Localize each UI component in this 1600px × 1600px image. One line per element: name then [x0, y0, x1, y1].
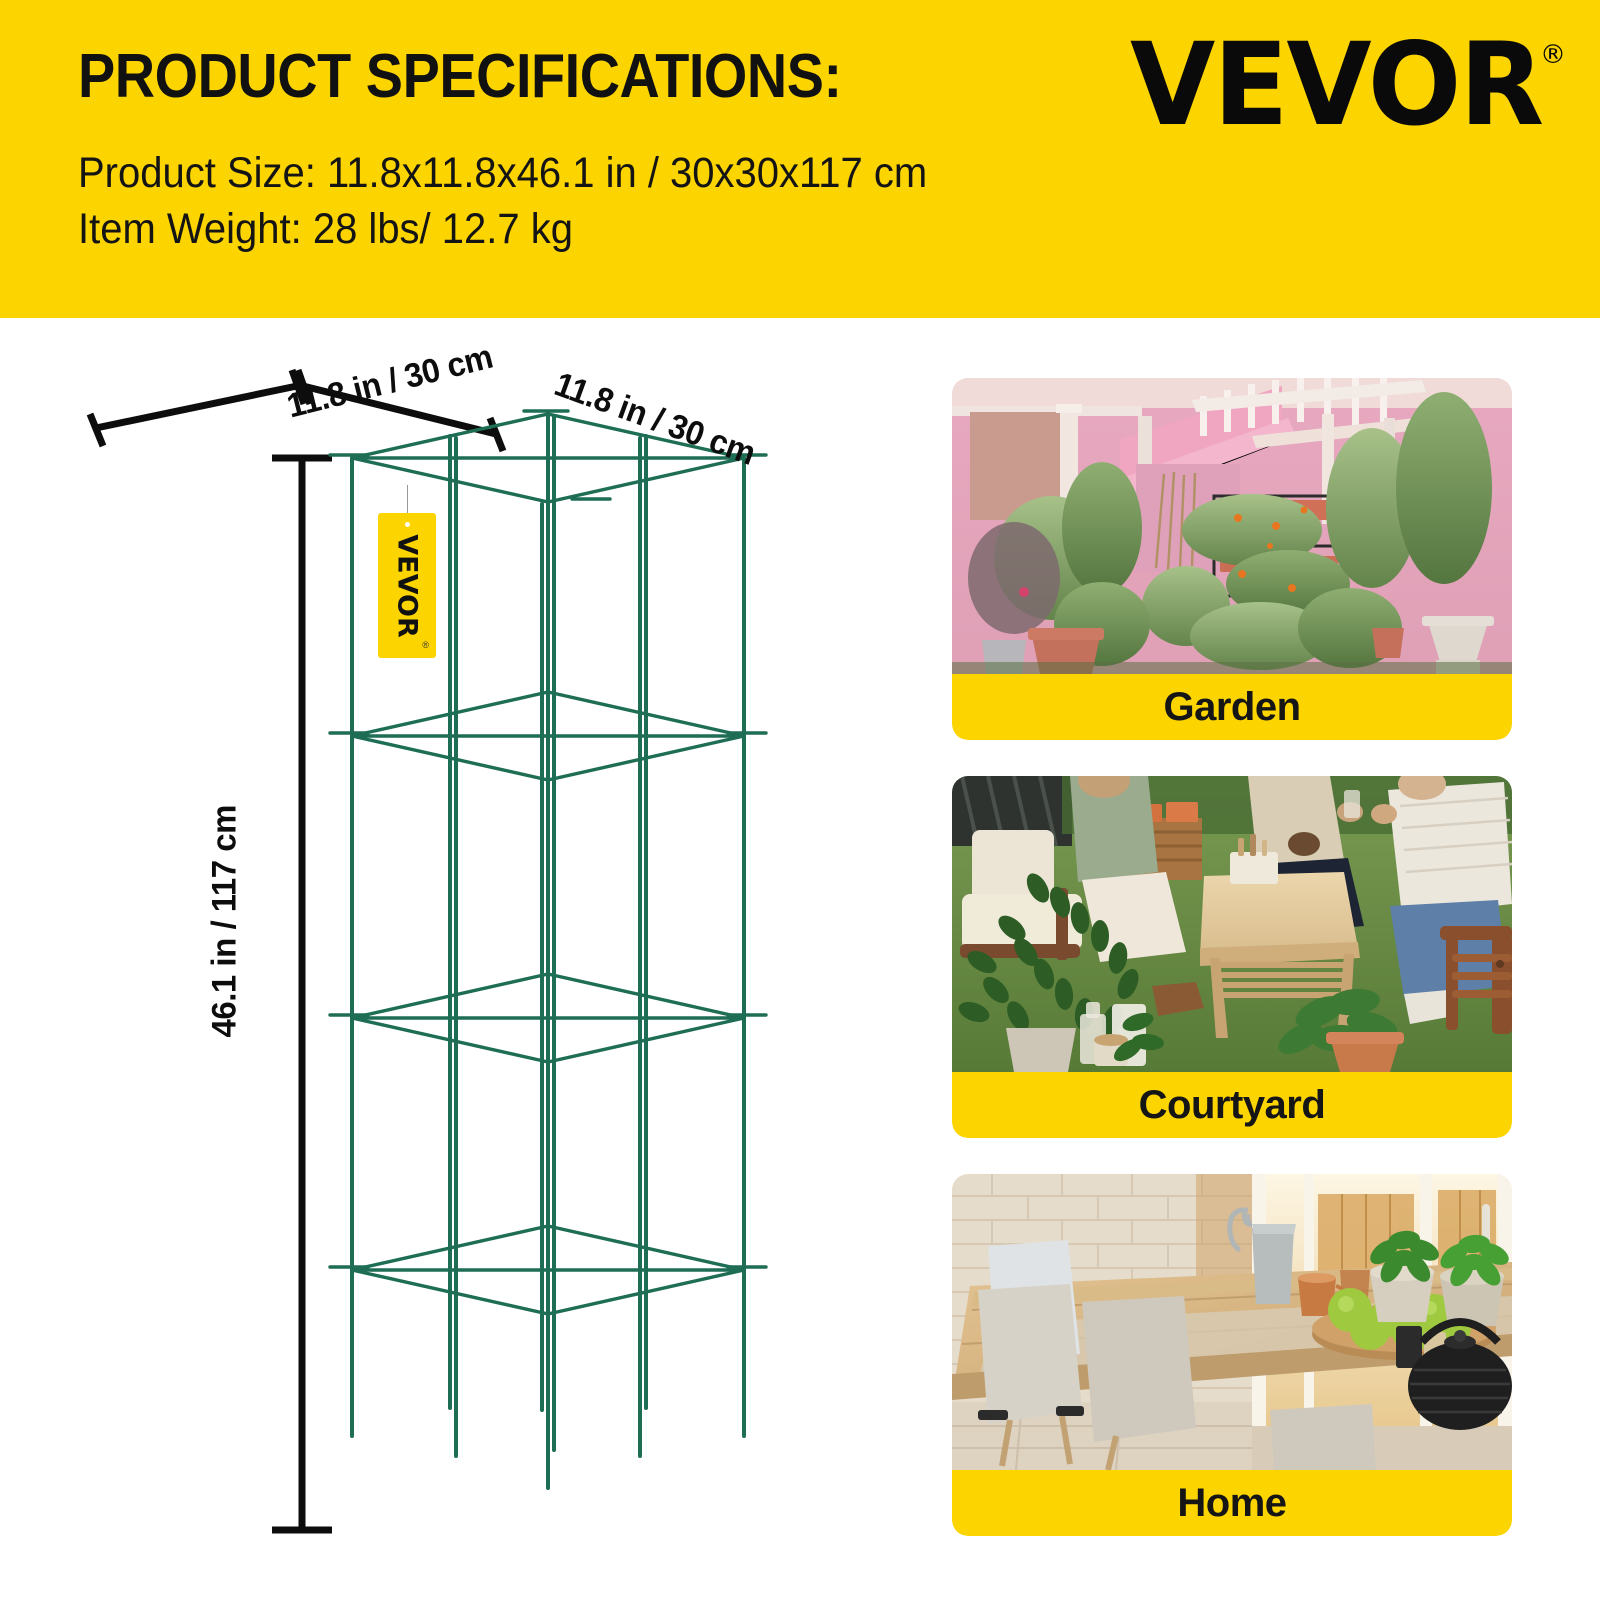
dimension-label-height: 46.1 in / 117 cm — [206, 805, 245, 1037]
scene-card-home[interactable]: Home — [952, 1174, 1512, 1536]
scene-card-garden[interactable]: Garden — [952, 378, 1512, 740]
hang-tag: VEVOR ® — [378, 485, 436, 660]
hang-tag-hole-icon — [405, 522, 410, 527]
garden-label: Garden — [1163, 685, 1300, 730]
hang-tag-body: VEVOR ® — [378, 513, 436, 658]
spec-item-weight: Item Weight: 28 lbs/ 12.7 kg — [78, 208, 573, 251]
home-label-band: Home — [952, 1470, 1512, 1536]
hang-tag-registered-icon: ® — [422, 640, 429, 650]
cage-drawing: .rod { stroke:#1e6d55; stroke-width:4; f… — [0, 318, 930, 1600]
home-photo — [952, 1174, 1512, 1470]
hang-tag-label: VEVOR — [392, 534, 423, 638]
garden-photo — [952, 378, 1512, 674]
vevor-logo: VEVOR ® — [1130, 34, 1566, 131]
product-diagram: .rod { stroke:#1e6d55; stroke-width:4; f… — [0, 318, 930, 1600]
registered-trademark-icon: ® — [1540, 40, 1566, 70]
dimension-line-height — [272, 458, 332, 1530]
dimension-line-top-left — [90, 370, 304, 446]
courtyard-photo — [952, 776, 1512, 1072]
home-label: Home — [1177, 1481, 1286, 1526]
garden-label-band: Garden — [952, 674, 1512, 740]
courtyard-label-band: Courtyard — [952, 1072, 1512, 1138]
spec-product-size: Product Size: 11.8x11.8x46.1 in / 30x30x… — [78, 152, 927, 195]
vevor-wordmark: VEVOR — [1130, 34, 1542, 137]
scene-cards: Garden — [952, 378, 1512, 1572]
courtyard-label: Courtyard — [1139, 1083, 1326, 1128]
hang-tag-string — [407, 485, 408, 515]
page-title: PRODUCT SPECIFICATIONS: — [78, 44, 842, 109]
header-banner: PRODUCT SPECIFICATIONS: Product Size: 11… — [0, 0, 1600, 318]
scene-card-courtyard[interactable]: Courtyard — [952, 776, 1512, 1138]
